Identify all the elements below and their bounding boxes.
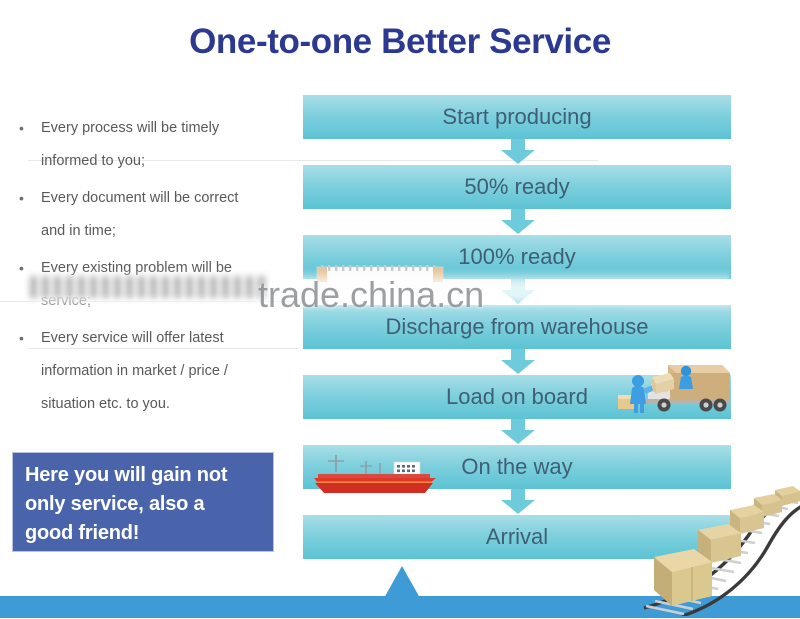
bullet-line: Every service will offer latest (41, 322, 298, 355)
flow-arrow-down-icon (499, 139, 537, 165)
page-title: One-to-one Better Service (0, 22, 800, 62)
promise-line: good friend! (25, 519, 263, 548)
list-item: • Every service will offer latest inform… (8, 322, 298, 421)
flow-arrow-down-icon (499, 419, 537, 445)
list-item: • Every process will be timely informed … (8, 112, 298, 178)
watermark-text: trade.china.cn (258, 274, 484, 316)
flow-step-label: Arrival (486, 526, 548, 548)
bullet-dot-icon: • (19, 182, 24, 215)
list-item: • Every document will be correct and in … (8, 182, 298, 248)
bullet-line: and in time; (41, 215, 298, 248)
slide-canvas: One-to-one Better Service • Every proces… (0, 0, 800, 619)
bullet-line: Every process will be timely (41, 112, 298, 145)
flow-step-label: 100% ready (458, 246, 575, 268)
flow-step-label: Discharge from warehouse (386, 316, 649, 338)
flow-step-start-producing: Start producing (303, 95, 731, 139)
bullet-dot-icon: • (19, 252, 24, 285)
delivery-truck-loading-icon (612, 361, 734, 413)
flow-step-label: Load on board (446, 386, 588, 408)
flow-step-label: On the way (461, 456, 572, 478)
flow-arrow-down-icon (499, 349, 537, 375)
bullet-line: information in market / price / (41, 355, 298, 388)
flow-step-50-percent-ready: 50% ready (303, 165, 731, 209)
bullet-line: informed to you; (41, 145, 298, 178)
flow-step-label: 50% ready (464, 176, 569, 198)
bullet-dot-icon: • (19, 112, 24, 145)
promise-callout-box: Here you will gain not only service, als… (12, 452, 274, 552)
promise-text: Here you will gain not only service, als… (25, 461, 263, 548)
bullet-line: situation etc. to you. (41, 388, 298, 421)
bullet-line: Every document will be correct (41, 182, 298, 215)
conveyor-belt-boxes-icon (636, 484, 800, 616)
bullet-dot-icon: • (19, 322, 24, 355)
bottom-arrow-up-icon (384, 566, 420, 598)
redacted-text-blur (30, 276, 270, 298)
cargo-ship-icon (312, 452, 442, 498)
flow-step-label: Start producing (442, 106, 591, 128)
benefits-bullet-list: • Every process will be timely informed … (8, 112, 298, 425)
flow-arrow-down-icon (499, 209, 537, 235)
promise-line: only service, also a (25, 490, 263, 519)
promise-line: Here you will gain not (25, 461, 263, 490)
flow-arrow-down-icon (499, 489, 537, 515)
